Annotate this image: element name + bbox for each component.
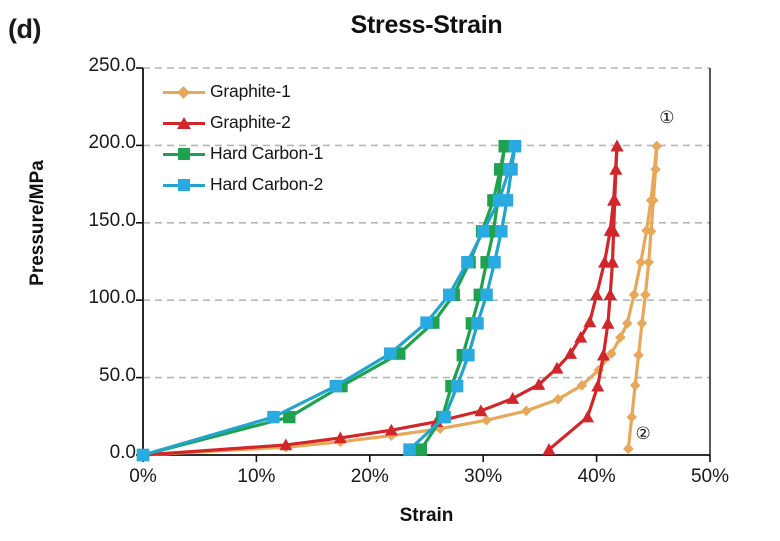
legend-label: Hard Carbon-1 xyxy=(210,143,323,164)
data-point-marker xyxy=(137,449,149,461)
legend-item[interactable]: Graphite-1 xyxy=(163,76,393,107)
data-point-marker xyxy=(330,380,342,392)
legend-swatch xyxy=(163,177,205,193)
data-point-marker xyxy=(480,289,492,301)
data-point-marker xyxy=(471,317,483,329)
data-point-marker xyxy=(509,140,521,152)
data-point-marker xyxy=(384,347,396,359)
legend-item[interactable]: Graphite-2 xyxy=(163,107,393,138)
data-point-marker xyxy=(443,289,455,301)
data-point-marker xyxy=(606,256,619,268)
data-point-marker xyxy=(506,392,519,404)
data-point-marker xyxy=(629,289,640,300)
data-point-marker xyxy=(608,194,621,206)
data-point-marker xyxy=(267,411,279,423)
data-point-marker xyxy=(640,289,651,300)
legend-marker-square-icon xyxy=(178,179,190,191)
data-point-marker xyxy=(583,315,596,327)
legend-marker-triangle-icon xyxy=(177,117,191,129)
data-point-marker xyxy=(438,411,450,423)
data-point-marker xyxy=(604,288,617,300)
data-point-marker xyxy=(637,318,648,329)
data-point-marker xyxy=(633,350,644,361)
data-point-marker xyxy=(626,412,637,423)
data-point-marker xyxy=(590,288,603,300)
data-point-marker xyxy=(495,225,507,237)
legend-label: Graphite-1 xyxy=(210,81,291,102)
annotation-loading-branch: ① xyxy=(655,107,679,131)
data-point-marker xyxy=(591,380,604,392)
data-point-marker xyxy=(581,411,594,423)
data-point-marker xyxy=(643,257,654,268)
stress-strain-figure: (d) Stress-Strain Pressure/MPa Strain 0.… xyxy=(0,0,780,541)
data-point-marker xyxy=(630,380,641,391)
data-point-marker xyxy=(622,318,633,329)
legend-label: Hard Carbon-2 xyxy=(210,174,323,195)
data-point-marker xyxy=(451,380,463,392)
data-point-marker xyxy=(609,163,622,175)
data-point-marker xyxy=(601,317,614,329)
legend-marker-square-icon xyxy=(178,148,190,160)
data-point-marker xyxy=(481,415,492,426)
data-point-marker xyxy=(477,225,489,237)
legend-marker-diamond-icon xyxy=(177,86,190,99)
legend: Graphite-1Graphite-2Hard Carbon-1Hard Ca… xyxy=(163,76,393,200)
data-point-marker xyxy=(501,194,513,206)
data-point-marker xyxy=(403,443,415,455)
legend-swatch xyxy=(163,115,205,131)
data-point-marker xyxy=(461,256,473,268)
legend-item[interactable]: Hard Carbon-2 xyxy=(163,169,393,200)
legend-label: Graphite-2 xyxy=(210,112,291,133)
annotation-unloading-branch: ② xyxy=(631,423,655,447)
data-point-marker xyxy=(488,256,500,268)
legend-swatch xyxy=(163,84,205,100)
data-point-marker xyxy=(505,163,517,175)
data-point-marker xyxy=(521,406,532,417)
legend-item[interactable]: Hard Carbon-1 xyxy=(163,138,393,169)
data-point-marker xyxy=(462,349,474,361)
data-point-marker xyxy=(650,164,661,175)
data-point-marker xyxy=(651,141,662,152)
data-point-marker xyxy=(420,316,432,328)
legend-swatch xyxy=(163,146,205,162)
